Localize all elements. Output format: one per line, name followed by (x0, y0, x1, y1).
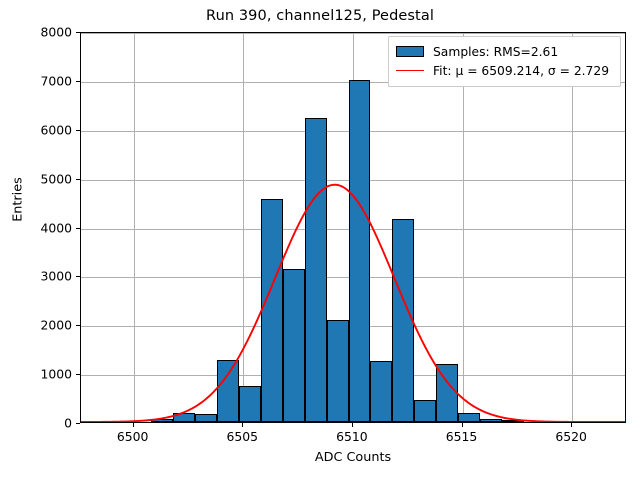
y-tick-1000 (76, 374, 80, 375)
x-tick-label-6510: 6510 (336, 429, 368, 444)
y-tick-8000 (76, 32, 80, 33)
y-axis-label: Entries (11, 100, 26, 300)
x-axis-label: ADC Counts (80, 450, 626, 465)
y-tick-label-1000: 1000 (40, 367, 72, 382)
x-tick-label-6505: 6505 (226, 429, 258, 444)
y-tick-label-6000: 6000 (40, 122, 72, 137)
y-tick-2000 (76, 325, 80, 326)
x-tick-label-6500: 6500 (117, 429, 149, 444)
y-tick-7000 (76, 81, 80, 82)
y-tick-label-3000: 3000 (40, 269, 72, 284)
legend-item-samples: Samples: RMS=2.61 (396, 42, 613, 61)
x-tick-6520 (571, 423, 572, 427)
y-tick-3000 (76, 276, 80, 277)
legend-label-fit: Fit: μ = 6509.214, σ = 2.729 (433, 64, 609, 78)
legend-patch-icon (396, 46, 424, 57)
y-tick-label-2000: 2000 (40, 318, 72, 333)
y-tick-0 (76, 423, 80, 424)
plot-area (80, 32, 626, 423)
x-tick-6515 (462, 423, 463, 427)
y-tick-label-0: 0 (64, 416, 72, 431)
x-tick-6510 (352, 423, 353, 427)
x-tick-6505 (242, 423, 243, 427)
x-tick-6500 (133, 423, 134, 427)
y-tick-5000 (76, 179, 80, 180)
y-tick-label-5000: 5000 (40, 171, 72, 186)
legend-item-fit: Fit: μ = 6509.214, σ = 2.729 (396, 61, 613, 80)
legend: Samples: RMS=2.61 Fit: μ = 6509.214, σ =… (388, 36, 621, 87)
y-tick-label-4000: 4000 (40, 220, 72, 235)
x-tick-label-6520: 6520 (555, 429, 587, 444)
y-tick-6000 (76, 130, 80, 131)
y-tick-4000 (76, 228, 80, 229)
figure-canvas: Run 390, channel125, Pedestal 6500650565… (0, 0, 640, 480)
y-tick-label-8000: 8000 (40, 25, 72, 40)
page-title: Run 390, channel125, Pedestal (0, 8, 640, 24)
fit-curve (81, 33, 625, 422)
gaussian-fit-path (81, 185, 625, 422)
x-tick-label-6515: 6515 (446, 429, 478, 444)
legend-label-samples: Samples: RMS=2.61 (433, 45, 558, 59)
legend-line-icon (396, 70, 424, 71)
y-tick-label-7000: 7000 (40, 73, 72, 88)
